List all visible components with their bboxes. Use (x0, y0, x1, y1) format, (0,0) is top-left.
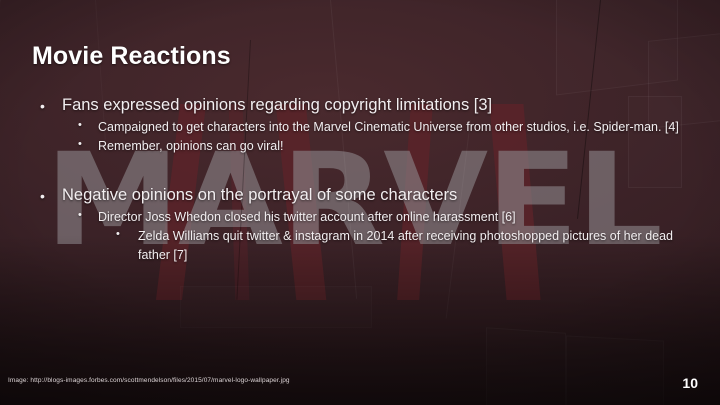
bullet-text: Director Joss Whedon closed his twitter … (98, 208, 690, 226)
bullet-level1: • Fans expressed opinions regarding copy… (40, 96, 690, 115)
presentation-slide: MARVEL Movie Reactions • Fans expressed … (0, 0, 720, 405)
bullet-level2: • Remember, opinions can go viral! (40, 137, 690, 155)
bullet-text: Remember, opinions can go viral! (98, 137, 690, 155)
bullet-level3: • Zelda Williams quit twitter & instagra… (40, 227, 690, 263)
bullet-text: Zelda Williams quit twitter & instagram … (138, 227, 690, 263)
bullet-level2: • Campaigned to get characters into the … (40, 118, 690, 136)
slide-content: Movie Reactions • Fans expressed opinion… (0, 0, 720, 405)
bullet-marker-icon: • (78, 118, 98, 131)
slide-title: Movie Reactions (32, 42, 231, 71)
bullet-marker-icon: • (78, 137, 98, 150)
bullet-text: Campaigned to get characters into the Ma… (98, 118, 690, 136)
bullet-text: Fans expressed opinions regarding copyri… (62, 96, 690, 115)
bullet-marker-icon: • (40, 96, 62, 113)
bullet-group-spacer (40, 156, 690, 186)
bullet-marker-icon: • (40, 186, 62, 203)
slide-body: • Fans expressed opinions regarding copy… (40, 96, 690, 265)
image-credit-footer: Image: http://blogs-images.forbes.com/sc… (8, 377, 290, 384)
bullet-text: Negative opinions on the portrayal of so… (62, 186, 690, 205)
bullet-marker-icon: • (78, 208, 98, 221)
bullet-marker-icon: • (116, 227, 138, 240)
slide-page-number: 10 (682, 375, 698, 391)
bullet-level1: • Negative opinions on the portrayal of … (40, 186, 690, 205)
bullet-level2: • Director Joss Whedon closed his twitte… (40, 208, 690, 226)
